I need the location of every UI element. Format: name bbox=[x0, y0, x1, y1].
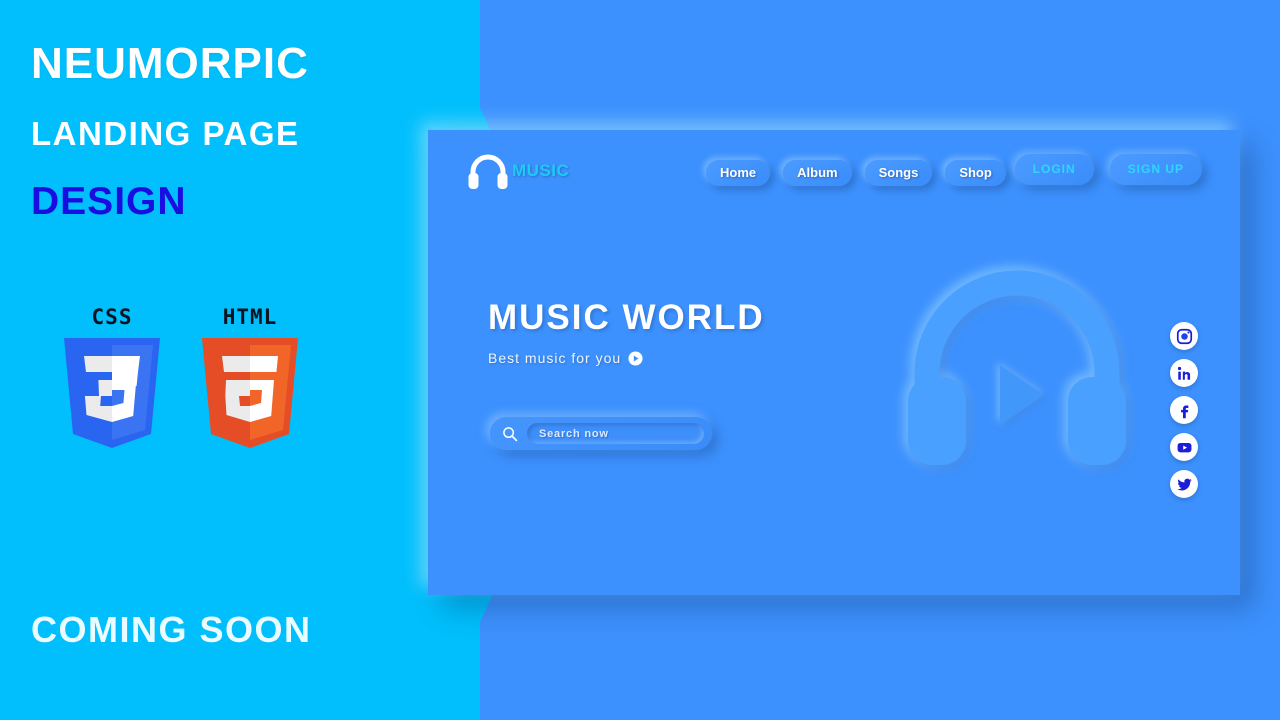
social-youtube[interactable] bbox=[1170, 433, 1198, 461]
hero-tagline-text: Best music for you bbox=[488, 350, 621, 366]
social-instagram[interactable] bbox=[1170, 322, 1198, 350]
instagram-icon bbox=[1176, 328, 1193, 345]
social-rail bbox=[1170, 322, 1204, 498]
play-circle-icon[interactable] bbox=[628, 351, 643, 366]
promo-design-word: DESIGN bbox=[31, 182, 187, 221]
social-twitter[interactable] bbox=[1170, 470, 1198, 498]
linkedin-icon bbox=[1176, 365, 1193, 382]
login-button[interactable]: LOGIN bbox=[1015, 154, 1094, 185]
search-bar[interactable]: Search now bbox=[490, 417, 712, 450]
html5-shield-icon bbox=[196, 334, 304, 452]
social-facebook[interactable] bbox=[1170, 396, 1198, 424]
nav-link-songs[interactable]: Songs bbox=[865, 160, 933, 186]
hero-tagline-row: Best music for you bbox=[488, 350, 828, 366]
slide-canvas: NEUMORPIC LANDING PAGE DESIGN CSS HTML bbox=[0, 0, 1280, 720]
hero-title: MUSIC WORLD bbox=[488, 300, 828, 335]
css3-logo-label: CSS bbox=[58, 305, 166, 329]
facebook-icon bbox=[1176, 402, 1193, 419]
promo-subtitle: LANDING PAGE bbox=[31, 117, 300, 150]
promo-column: NEUMORPIC LANDING PAGE DESIGN CSS HTML bbox=[0, 0, 420, 720]
navbar: MUSIC Home Album Songs Shop LOGIN SIGN U… bbox=[428, 130, 1240, 218]
promo-title: NEUMORPIC bbox=[31, 42, 309, 86]
html5-logo-label: HTML bbox=[196, 305, 304, 329]
headphones-play-illustration bbox=[892, 255, 1142, 480]
landing-page-card: MUSIC Home Album Songs Shop LOGIN SIGN U… bbox=[428, 130, 1240, 595]
signup-button[interactable]: SIGN UP bbox=[1110, 154, 1202, 185]
youtube-icon bbox=[1176, 439, 1193, 456]
social-linkedin[interactable] bbox=[1170, 359, 1198, 387]
hero-section: MUSIC WORLD Best music for you bbox=[488, 300, 828, 366]
nav-link-shop[interactable]: Shop bbox=[945, 160, 1006, 186]
brand-name: MUSIC bbox=[512, 161, 569, 181]
coming-soon-text: COMING SOON bbox=[31, 612, 312, 648]
search-icon bbox=[502, 426, 518, 442]
search-input[interactable]: Search now bbox=[527, 423, 704, 444]
search-placeholder: Search now bbox=[539, 428, 609, 440]
css3-shield-icon bbox=[58, 334, 166, 452]
nav-links: Home Album Songs Shop bbox=[706, 160, 1006, 186]
html5-logo: HTML bbox=[196, 305, 304, 452]
headphones-icon bbox=[466, 150, 510, 192]
css3-logo: CSS bbox=[58, 305, 166, 452]
nav-link-album[interactable]: Album bbox=[783, 160, 851, 186]
brand-logo[interactable]: MUSIC bbox=[466, 150, 569, 192]
auth-buttons: LOGIN SIGN UP bbox=[1015, 154, 1202, 185]
tech-logos: CSS HTML bbox=[58, 305, 304, 452]
nav-link-home[interactable]: Home bbox=[706, 160, 770, 186]
twitter-icon bbox=[1176, 476, 1193, 493]
